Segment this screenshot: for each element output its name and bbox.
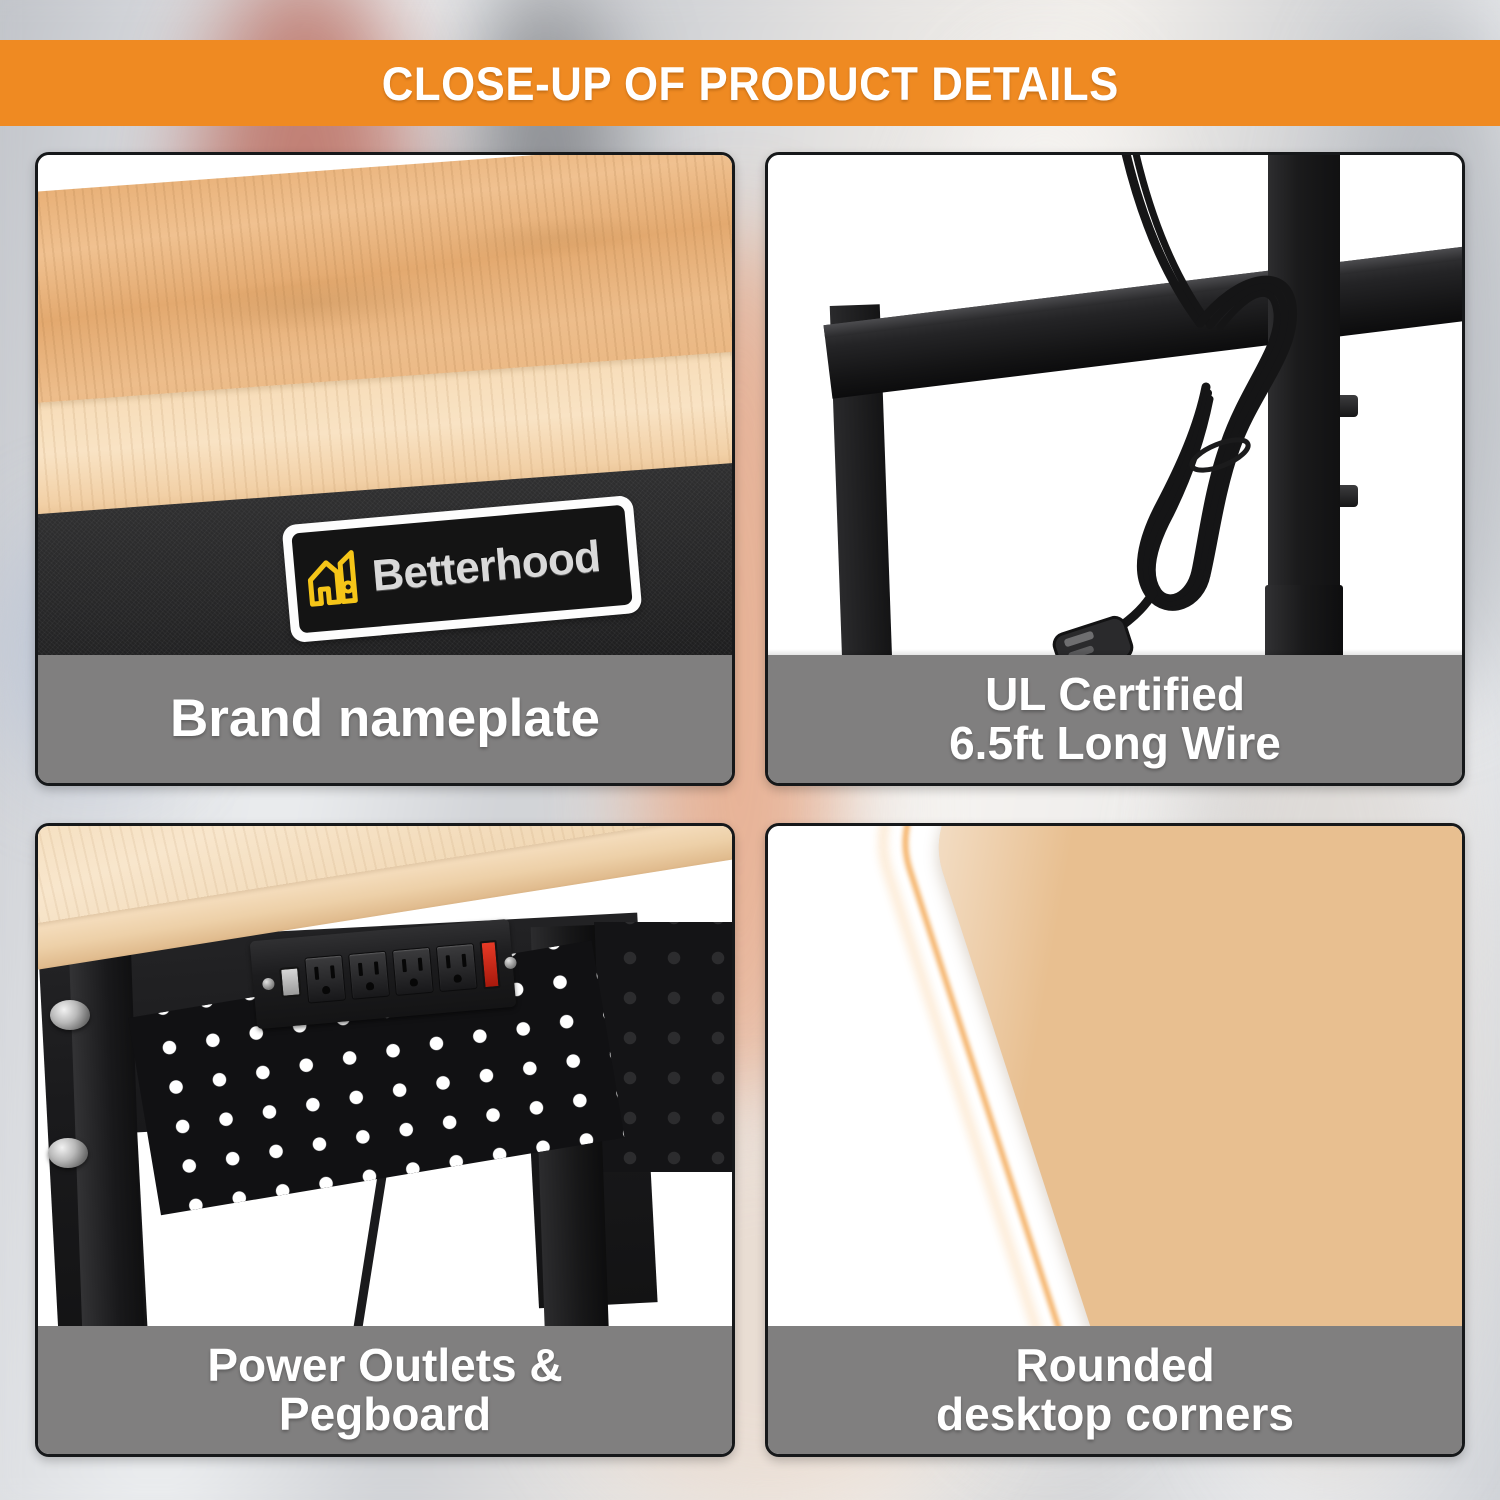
detail-panel-ul-certified-wire[interactable]: UL Certified 6.5ft Long Wire [765, 152, 1465, 786]
caption-line: Pegboard [279, 1390, 491, 1439]
panel-caption-ul-certified-wire: UL Certified 6.5ft Long Wire [768, 655, 1462, 783]
product-photo-brand-nameplate: Betterhood [38, 155, 732, 655]
detail-panel-brand-nameplate[interactable]: Betterhood Brand nameplate [35, 152, 735, 786]
caption-line: Rounded [1015, 1341, 1214, 1390]
ac-socket-icon [348, 951, 390, 1000]
frame-bolt-icon [48, 1138, 88, 1168]
usb-port-icon [279, 966, 302, 998]
brand-wordmark: Betterhood [370, 532, 602, 602]
product-photo-ul-wire [768, 155, 1462, 655]
ac-socket-icon [436, 943, 478, 992]
header-banner: CLOSE-UP OF PRODUCT DETAILS [0, 40, 1500, 126]
nameplate-inner: Betterhood [291, 505, 632, 634]
banner-title: CLOSE-UP OF PRODUCT DETAILS [381, 56, 1118, 111]
product-photo-rounded-corner [768, 826, 1462, 1326]
caption-line: Power Outlets & [207, 1341, 562, 1390]
panel-caption-rounded-desktop-corners: Rounded desktop corners [768, 1326, 1462, 1454]
caption-line: desktop corners [936, 1390, 1294, 1439]
power-switch-icon[interactable] [480, 940, 501, 989]
caption-line: 6.5ft Long Wire [949, 719, 1281, 768]
detail-panel-power-outlets-pegboard[interactable]: Power Outlets & Pegboard [35, 823, 735, 1457]
product-photo-outlets-pegboard [38, 826, 732, 1326]
detail-panel-rounded-desktop-corners[interactable]: Rounded desktop corners [765, 823, 1465, 1457]
caption-line: UL Certified [985, 670, 1245, 719]
panel-caption-power-outlets-pegboard: Power Outlets & Pegboard [38, 1326, 732, 1454]
ac-socket-icon [392, 947, 434, 996]
house-building-icon [305, 546, 368, 615]
frame-bolt-icon [50, 1000, 90, 1030]
caption-line: Brand nameplate [170, 691, 600, 747]
product-detail-grid: Betterhood Brand nameplate [35, 152, 1465, 1457]
panel-caption-brand-nameplate: Brand nameplate [38, 655, 732, 783]
ac-socket-icon [304, 954, 346, 1003]
power-cord-icon [768, 155, 1462, 655]
mounting-screw-icon [262, 978, 275, 991]
